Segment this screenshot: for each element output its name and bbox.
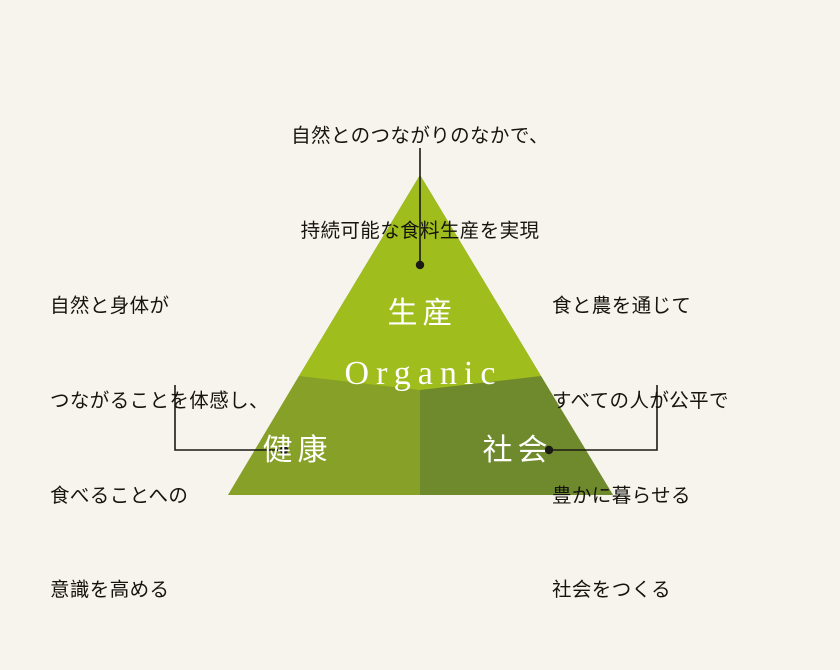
triangle-label-health: 健康 <box>215 425 375 469</box>
caption-left-line-3: 食べることへの <box>50 481 269 513</box>
triangle-label-production: 生産 <box>340 288 500 332</box>
caption-right-line-3: 豊かに暮らせる <box>552 481 729 513</box>
caption-top-line-1: 自然とのつながりのなかで、 <box>0 121 840 153</box>
caption-left-line-2: つながることを体感し、 <box>50 386 269 418</box>
triangle-label-organic: Organic <box>250 355 590 393</box>
caption-left-line-1: 自然と身体が <box>50 291 269 323</box>
caption-right-line-1: 食と農を通じて <box>552 291 729 323</box>
caption-right-line-4: 社会をつくる <box>552 575 729 607</box>
organic-triangle-diagram: 自然とのつながりのなかで、 持続可能な食料生産を実現 自然と身体が つながること… <box>0 0 840 560</box>
caption-left-line-4: 意識を高める <box>50 575 269 607</box>
triangle-label-society: 社会 <box>355 425 675 469</box>
